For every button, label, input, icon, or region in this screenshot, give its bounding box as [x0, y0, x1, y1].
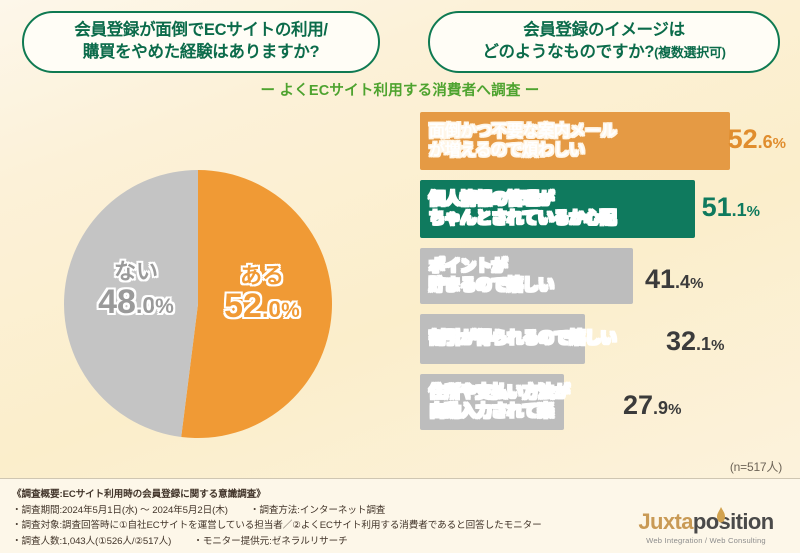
survey-sub-caption: ー よくECサイト利用する消費者へ調査 ー: [0, 79, 800, 100]
question-left-line2: 購買をやめた経験はありますか?: [83, 42, 320, 64]
footnote-row-count: ・調査人数:1,043人(①526人/②517人) ・モニター提供元:ゼネラルリ…: [12, 534, 632, 550]
bar-label-3: 割引が得られるので嬉しい: [420, 329, 616, 348]
bar-value-2-unit: %: [690, 275, 703, 292]
bar-value-2-int: 41: [645, 264, 675, 294]
bar-label-4-line1: 住所や支払い方法が: [429, 384, 569, 401]
bar-value-2-dec: .4: [675, 272, 690, 292]
pie-label-aru: ある 52.0%: [200, 264, 324, 325]
bar-value-0-unit: %: [773, 135, 786, 152]
bar-value-4-unit: %: [668, 401, 681, 418]
bar-value-0: 52.6%: [728, 126, 786, 153]
bar-label-0: 面倒かつ不要な案内メール が増えるので煩わしい: [420, 122, 616, 160]
bar-value-1-unit: %: [747, 203, 760, 220]
bar-row: ポイントが 貯まるので嬉しい 41.4%: [420, 248, 788, 304]
bar-fill-2: ポイントが 貯まるので嬉しい: [420, 248, 633, 304]
pie-label-nai-name: ない: [76, 260, 196, 283]
footnote-heading: 《調査概要:ECサイト利用時の会員登録に関する意識調査》: [12, 487, 632, 503]
bar-label-1-line2: ちゃんとされているか心配: [429, 209, 616, 228]
question-right-multiselect-note: (複数選択可): [654, 45, 726, 60]
pie-chart: ない 48.0% ある 52.0%: [62, 168, 334, 440]
bar-label-4-line2: 自動入力されて楽: [429, 402, 569, 421]
flame-icon: [716, 507, 726, 523]
bar-label-0-line1: 面倒かつ不要な案内メール: [429, 123, 616, 140]
logo-tagline: Web Integration / Web Consulting: [626, 536, 786, 545]
footnote-period: ・調査期間:2024年5月1日(水) 〜 2024年5月2日(木): [12, 503, 228, 519]
bar-value-0-int: 52: [728, 124, 758, 154]
footnote-provider: ・モニター提供元:ゼネラルリサーチ: [193, 534, 347, 550]
pie-label-nai-dec: .0: [136, 292, 155, 318]
bar-fill-1: 個人情報の管理が ちゃんとされているか心配: [420, 180, 695, 238]
bar-value-4-dec: .9: [653, 398, 668, 418]
footnote-row-period: ・調査期間:2024年5月1日(水) 〜 2024年5月2日(木) ・調査方法:…: [12, 503, 632, 519]
bar-label-3-line1: 割引が得られるので嬉しい: [429, 330, 616, 347]
pie-label-nai-int: 48: [98, 283, 136, 321]
pie-label-aru-unit: %: [281, 299, 300, 322]
bar-label-1-line1: 個人情報の管理が: [429, 191, 554, 208]
bar-value-0-dec: .6: [758, 132, 773, 152]
bar-label-1: 個人情報の管理が ちゃんとされているか心配: [420, 190, 616, 228]
logo-word-part1: Juxta: [638, 509, 692, 534]
bar-value-2: 41.4%: [645, 266, 703, 293]
question-bubble-right: 会員登録のイメージは どのようなものですか?(複数選択可): [428, 11, 780, 73]
pie-label-nai-unit: %: [155, 295, 174, 318]
pie-label-aru-name: ある: [200, 264, 324, 287]
bar-value-1: 51.1%: [702, 194, 760, 221]
pie-label-nai-value: 48.0%: [76, 285, 196, 321]
bar-value-4-int: 27: [623, 390, 653, 420]
pie-label-nai: ない 48.0%: [76, 260, 196, 321]
bar-chart: 面倒かつ不要な案内メール が増えるので煩わしい 52.6% 個人情報の管理が ち…: [420, 112, 788, 440]
question-bubble-left: 会員登録が面倒でECサイトの利用/ 購買をやめた経験はありますか?: [22, 11, 380, 73]
question-right-line1: 会員登録のイメージは: [523, 20, 685, 42]
bar-value-3-unit: %: [711, 337, 724, 354]
question-right-line2-main: どのようなものですか?: [482, 43, 654, 61]
pie-label-aru-dec: .0: [262, 296, 281, 322]
bar-fill-4: 住所や支払い方法が 自動入力されて楽: [420, 374, 564, 430]
bar-value-4: 27.9%: [623, 392, 681, 419]
bar-value-1-int: 51: [702, 192, 732, 222]
footnote-target: ・調査対象:調査回答時に①自社ECサイトを運営している担当者／②よくECサイト利…: [12, 518, 632, 534]
logo-wordmark: Juxtaposition: [626, 511, 786, 533]
bar-value-3-dec: .1: [696, 334, 711, 354]
company-logo: Juxtaposition Web Integration / Web Cons…: [626, 511, 786, 545]
question-left-line1: 会員登録が面倒でECサイトの利用/: [74, 20, 327, 42]
bar-value-3: 32.1%: [666, 328, 724, 355]
bar-fill-3: 割引が得られるので嬉しい: [420, 314, 585, 364]
footer: 《調査概要:ECサイト利用時の会員登録に関する意識調査》 ・調査期間:2024年…: [0, 478, 800, 553]
bar-row: 面倒かつ不要な案内メール が増えるので煩わしい 52.6%: [420, 112, 788, 170]
pie-label-aru-int: 52: [224, 287, 262, 325]
bar-label-4: 住所や支払い方法が 自動入力されて楽: [420, 383, 569, 421]
bar-label-2-line1: ポイントが: [429, 258, 507, 275]
footnote-count: ・調査人数:1,043人(①526人/②517人): [12, 534, 171, 550]
bar-value-3-int: 32: [666, 326, 696, 356]
bar-row: 個人情報の管理が ちゃんとされているか心配 51.1%: [420, 180, 788, 238]
bar-fill-0: 面倒かつ不要な案内メール が増えるので煩わしい: [420, 112, 730, 170]
infographic-root: 会員登録が面倒でECサイトの利用/ 購買をやめた経験はありますか? 会員登録のイ…: [0, 0, 800, 553]
bar-label-2-line2: 貯まるので嬉しい: [429, 276, 554, 295]
sample-size-note: (n=517人): [730, 458, 782, 475]
footnote-block: 《調査概要:ECサイト利用時の会員登録に関する意識調査》 ・調査期間:2024年…: [12, 487, 632, 549]
bar-value-1-dec: .1: [732, 200, 747, 220]
bar-label-0-line2: が増えるので煩わしい: [429, 141, 616, 160]
logo-word-part2: position: [693, 509, 774, 534]
pie-label-aru-value: 52.0%: [200, 289, 324, 325]
bar-label-2: ポイントが 貯まるので嬉しい: [420, 257, 554, 295]
bar-row: 割引が得られるので嬉しい 32.1%: [420, 314, 788, 364]
question-right-line2: どのようなものですか?(複数選択可): [482, 42, 725, 64]
footnote-method: ・調査方法:インターネット調査: [250, 503, 385, 519]
bar-row: 住所や支払い方法が 自動入力されて楽 27.9%: [420, 374, 788, 430]
